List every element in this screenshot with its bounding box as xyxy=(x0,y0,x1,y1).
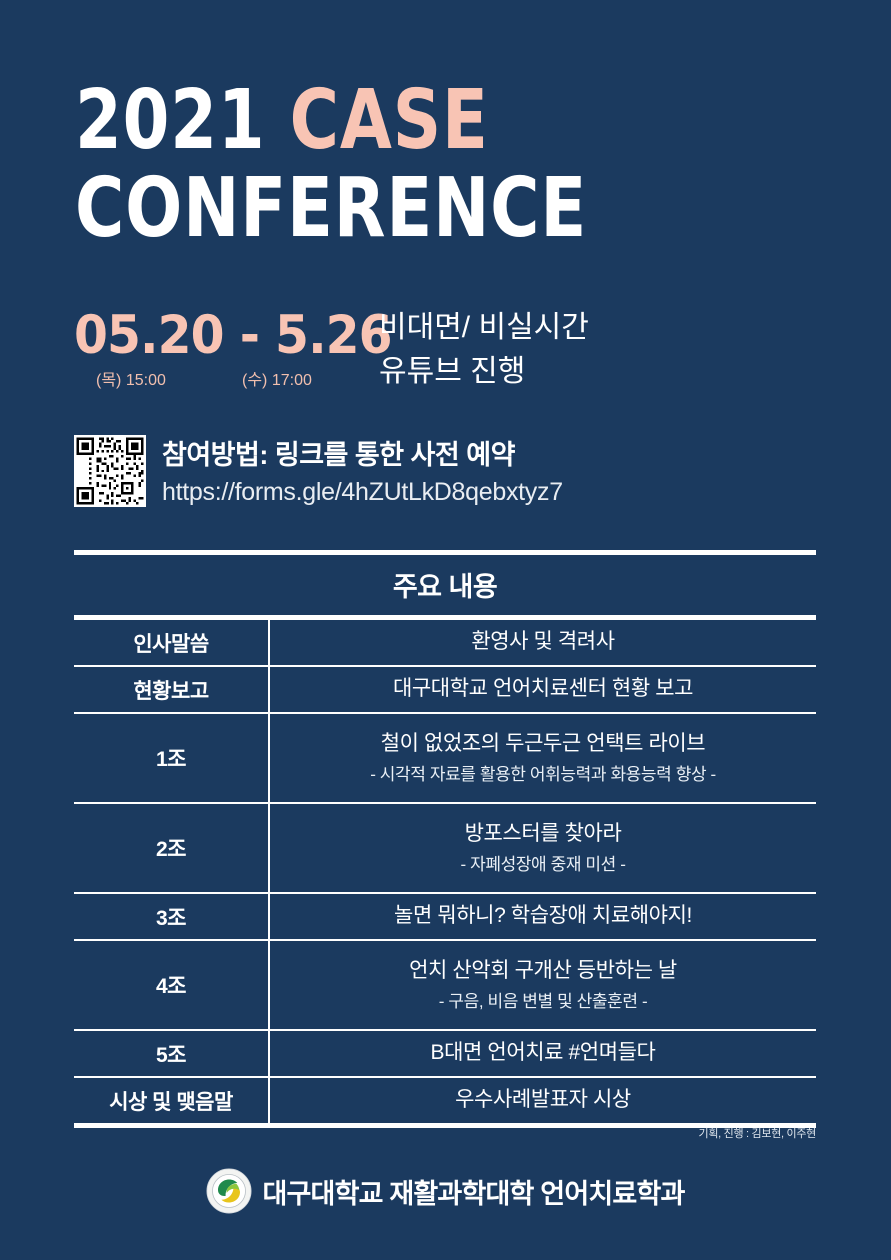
registration-url[interactable]: https://forms.gle/4hZUtLkD8qebxtyz7 xyxy=(162,478,563,507)
poster-root: 2021 CASE CONFERENCE 05.20 - 5.26 (목) 15… xyxy=(0,0,891,1260)
row-content: 놀면 뭐하니? 학습장애 치료해야지! xyxy=(270,894,816,939)
daegu-university-seal-icon xyxy=(206,1168,252,1214)
program-rows: 인사말씀환영사 및 격려사현황보고대구대학교 언어치료센터 현황 보고1조철이 … xyxy=(74,620,816,1123)
table-row: 4조언치 산악회 구개산 등반하는 날- 구음, 비음 변별 및 산출훈련 - xyxy=(74,941,816,1029)
row-content: 방포스터를 찾아라- 자폐성장애 중재 미션 - xyxy=(270,804,816,892)
program-table: 주요 내용 인사말씀환영사 및 격려사현황보고대구대학교 언어치료센터 현황 보… xyxy=(74,550,816,1128)
table-row: 인사말씀환영사 및 격려사 xyxy=(74,620,816,665)
row-content-sub: - 자폐성장애 중재 미션 - xyxy=(461,854,626,876)
row-content-main: 방포스터를 찾아라 xyxy=(465,820,622,848)
row-content-main: 우수사례발표자 시상 xyxy=(455,1086,631,1114)
program-title: 주요 내용 xyxy=(74,555,816,615)
row-content-main: 환영사 및 격려사 xyxy=(471,628,614,656)
headline-line-1: 2021 CASE xyxy=(75,82,698,160)
row-label: 4조 xyxy=(74,941,268,1029)
row-content-main: 언치 산악회 구개산 등반하는 날 xyxy=(409,957,677,985)
row-label: 3조 xyxy=(74,894,268,939)
row-content-main: 대구대학교 언어치료센터 현황 보고 xyxy=(393,675,693,703)
table-row: 1조철이 없었조의 두근두근 언택트 라이브- 시각적 자료를 활용한 어휘능력… xyxy=(74,714,816,802)
row-content-main: B대면 언어치료 #언며들다 xyxy=(431,1039,656,1067)
schedule-block: 05.20 - 5.26 (목) 15:00 (수) 17:00 비대면/ 비실… xyxy=(74,308,864,418)
row-content: 환영사 및 격려사 xyxy=(270,620,816,665)
start-time: (목) 15:00 xyxy=(96,366,166,390)
organization-name: 대구대학교 재활과학대학 언어치료학과 xyxy=(262,1172,684,1211)
poster-headline: 2021 CASE CONFERENCE xyxy=(75,82,835,248)
row-label: 1조 xyxy=(74,714,268,802)
table-row: 현황보고대구대학교 언어치료센터 현황 보고 xyxy=(74,667,816,712)
table-row: 2조방포스터를 찾아라- 자폐성장애 중재 미션 - xyxy=(74,804,816,892)
headline-case: CASE xyxy=(290,73,489,168)
table-row: 시상 및 맺음말우수사례발표자 시상 xyxy=(74,1078,816,1123)
row-content: 언치 산악회 구개산 등반하는 날- 구음, 비음 변별 및 산출훈련 - xyxy=(270,941,816,1029)
row-content: B대면 언어치료 #언며들다 xyxy=(270,1031,816,1076)
credits-line: 기획, 진행 : 김보현, 이주현 xyxy=(74,1125,816,1141)
qr-code-icon[interactable] xyxy=(74,435,146,507)
date-range: 05.20 - 5.26 xyxy=(74,308,392,364)
date-group: 05.20 - 5.26 (목) 15:00 (수) 17:00 xyxy=(74,308,419,364)
delivery-mode: 비대면/ 비실시간 유튜브 진행 xyxy=(379,306,589,393)
headline-year: 2021 xyxy=(75,73,265,168)
row-label: 2조 xyxy=(74,804,268,892)
row-content-sub: - 구음, 비음 변별 및 산출훈련 - xyxy=(439,991,647,1013)
mode-line-1: 비대면/ 비실시간 xyxy=(379,306,589,350)
table-row: 5조B대면 언어치료 #언며들다 xyxy=(74,1031,816,1076)
headline-conference: CONFERENCE xyxy=(75,161,587,256)
row-content-sub: - 시각적 자료를 활용한 어휘능력과 화용능력 향상 - xyxy=(370,764,716,786)
table-row: 3조놀면 뭐하니? 학습장애 치료해야지! xyxy=(74,894,816,939)
participation-texts: 참여방법: 링크를 통한 사전 예약 https://forms.gle/4hZ… xyxy=(162,433,563,507)
end-time: (수) 17:00 xyxy=(242,366,312,390)
row-content: 우수사례발표자 시상 xyxy=(270,1078,816,1123)
mode-line-2: 유튜브 진행 xyxy=(379,350,589,394)
footer-bar: 대구대학교 재활과학대학 언어치료학과 xyxy=(0,1168,891,1214)
headline-line-2: CONFERENCE xyxy=(75,170,698,248)
row-content: 철이 없었조의 두근두근 언택트 라이브- 시각적 자료를 활용한 어휘능력과 … xyxy=(270,714,816,802)
row-label: 시상 및 맺음말 xyxy=(74,1078,268,1123)
row-content: 대구대학교 언어치료센터 현황 보고 xyxy=(270,667,816,712)
participation-block: 참여방법: 링크를 통한 사전 예약 https://forms.gle/4hZ… xyxy=(74,435,864,525)
row-label: 5조 xyxy=(74,1031,268,1076)
row-label: 현황보고 xyxy=(74,667,268,712)
row-label: 인사말씀 xyxy=(74,620,268,665)
participation-title: 참여방법: 링크를 통한 사전 예약 xyxy=(162,433,563,472)
row-content-main: 철이 없었조의 두근두근 언택트 라이브 xyxy=(381,730,705,758)
row-content-main: 놀면 뭐하니? 학습장애 치료해야지! xyxy=(394,902,692,930)
